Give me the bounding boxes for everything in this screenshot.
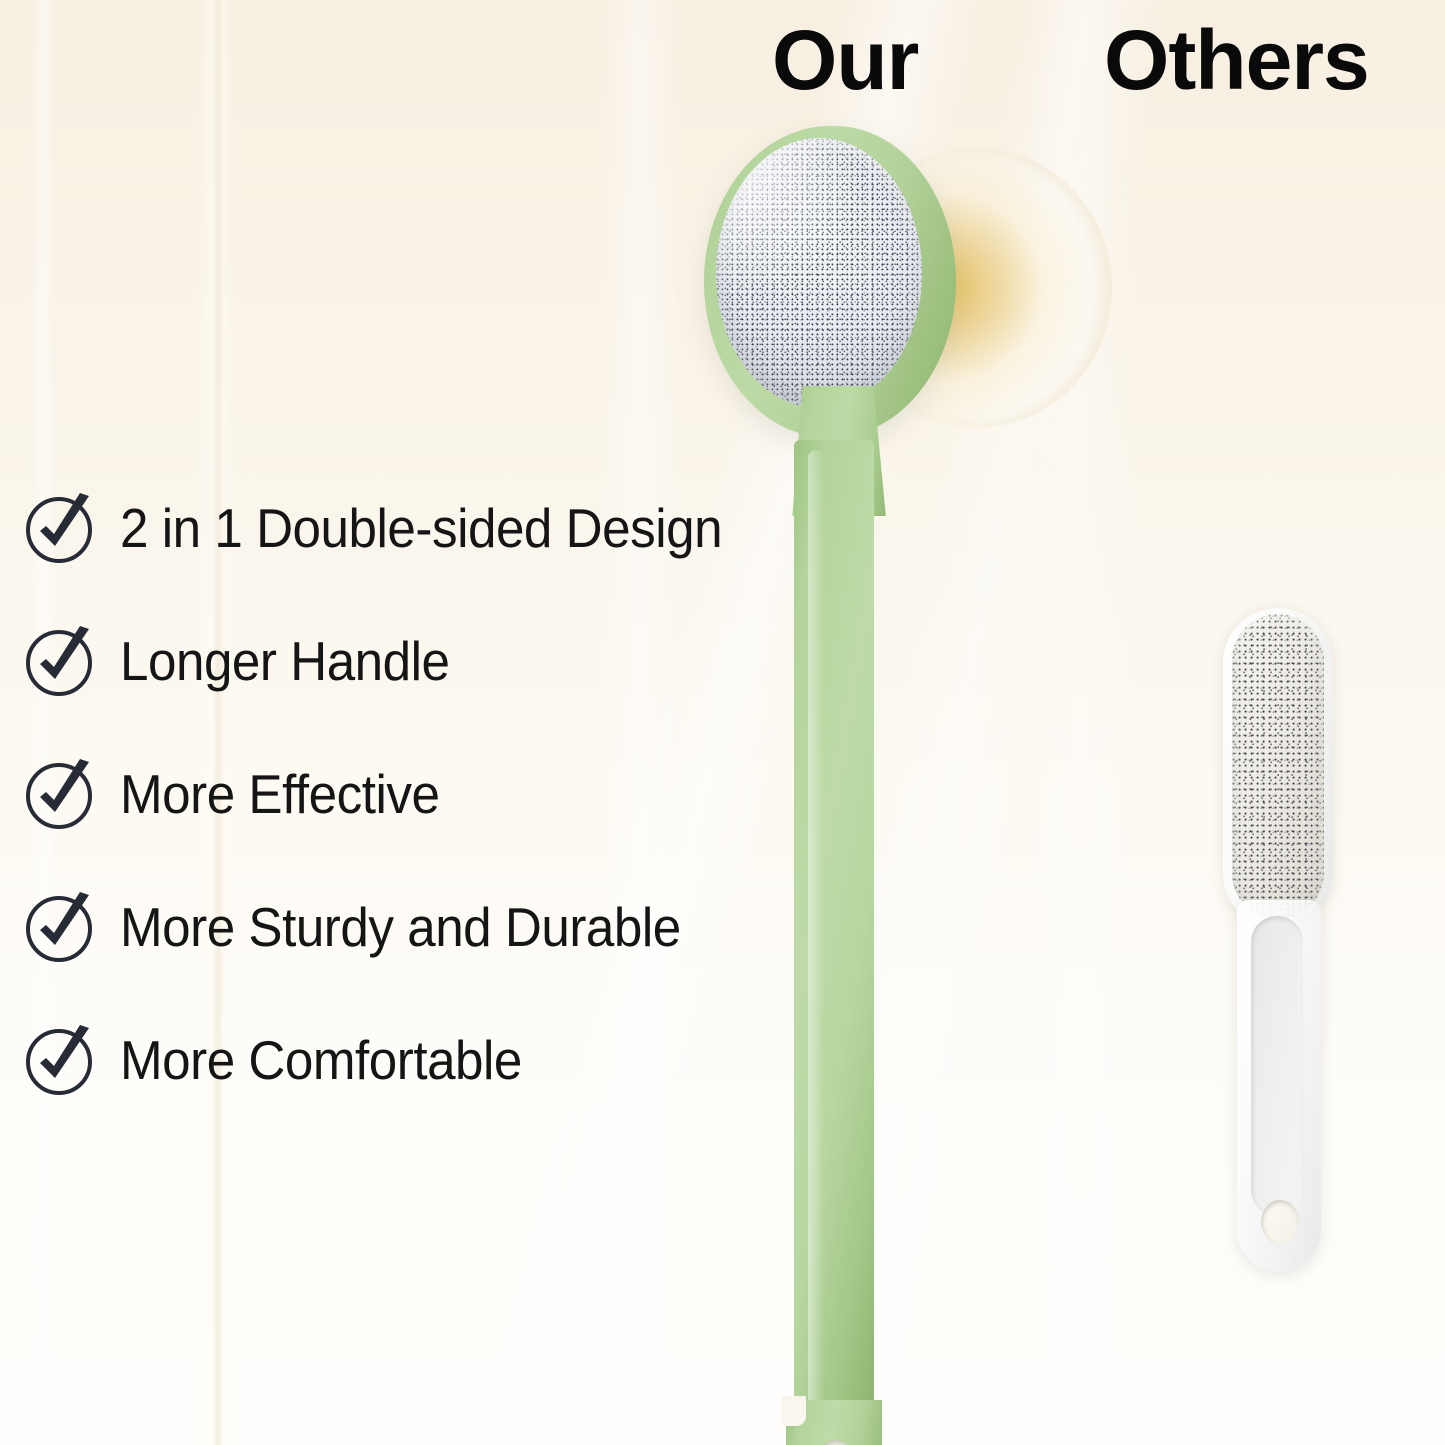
feature-label: Longer Handle	[120, 629, 450, 693]
check-circle-icon	[22, 490, 98, 566]
heading-others: Others	[1104, 18, 1369, 102]
handle-highlight	[808, 450, 824, 1410]
other-product-image	[1215, 600, 1395, 1280]
feature-label: More Effective	[120, 762, 439, 826]
feature-label: 2 in 1 Double-sided Design	[120, 496, 722, 560]
hanging-hole	[1261, 1200, 1299, 1244]
handle-grip-groove	[1251, 916, 1303, 1216]
handle-notch	[782, 1396, 806, 1426]
feature-label: More Sturdy and Durable	[120, 895, 681, 959]
long-green-handle	[794, 440, 874, 1425]
check-circle-icon	[22, 1022, 98, 1098]
pumice-stone-pad	[716, 138, 922, 408]
check-circle-icon	[22, 623, 98, 699]
list-item: More Comfortable	[22, 1012, 782, 1108]
list-item: Longer Handle	[22, 613, 782, 709]
our-product-image	[690, 110, 1070, 1445]
heading-our: Our	[772, 18, 918, 102]
product-comparison-image: Our Others 2 in 1 Double-sided Design Lo…	[0, 0, 1445, 1445]
check-circle-icon	[22, 889, 98, 965]
list-item: More Effective	[22, 746, 782, 842]
feature-list: 2 in 1 Double-sided Design Longer Handle…	[22, 480, 782, 1145]
check-circle-icon	[22, 756, 98, 832]
list-item: 2 in 1 Double-sided Design	[22, 480, 782, 576]
feature-label: More Comfortable	[120, 1028, 522, 1092]
pumice-stone-pad	[1232, 614, 1324, 919]
list-item: More Sturdy and Durable	[22, 879, 782, 975]
